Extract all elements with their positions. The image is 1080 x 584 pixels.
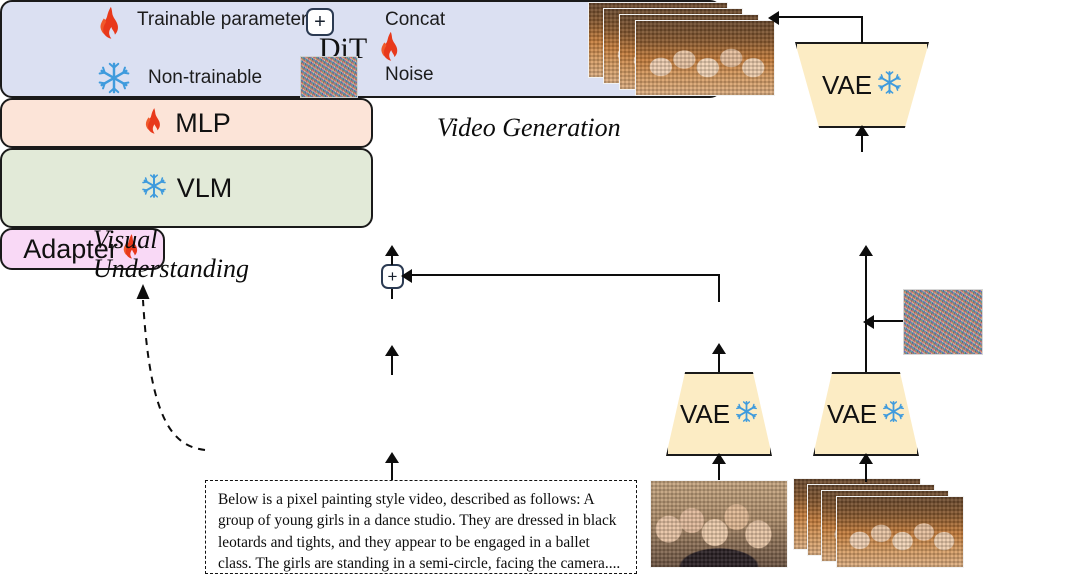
legend-nontrainable-label: Non-trainable xyxy=(148,67,262,89)
mlp-label: MLP xyxy=(175,108,231,139)
edge-decoder-to-output xyxy=(775,16,863,18)
prompt-text: Below is a pixel painting style video, d… xyxy=(218,491,620,572)
edge-vlm-to-mlp-arrow xyxy=(385,345,399,356)
flame-icon xyxy=(142,107,165,140)
concat-plus-icon: + xyxy=(306,8,334,36)
edge-concat-to-dit-arrow xyxy=(385,245,399,256)
edge-vae-to-dit-arrow xyxy=(859,245,873,256)
edge-adapter-riser xyxy=(718,274,720,302)
edge-vae-to-dit xyxy=(865,251,867,372)
flame-icon xyxy=(95,6,125,40)
concat-node-symbol: + xyxy=(388,267,398,287)
legend-concat-label: Concat xyxy=(385,9,445,31)
flame-icon xyxy=(377,31,403,67)
edge-decoder-to-output-arrow xyxy=(768,11,779,25)
visual-understanding-line-1: Visual xyxy=(93,225,293,254)
noise-swatch-icon xyxy=(300,56,358,98)
vae-decoder-label: VAE xyxy=(822,70,872,101)
vae-encoder-video-block: VAE xyxy=(813,372,919,456)
legend-trainable-label: Trainable parameter xyxy=(137,9,307,31)
snowflake-icon xyxy=(141,173,167,204)
edge-adapter-to-concat xyxy=(404,274,720,276)
visual-understanding-line-2: Understanding xyxy=(93,254,293,283)
video-frame xyxy=(836,496,964,568)
vae-encoder-reference-label: VAE xyxy=(680,399,730,430)
edge-decoder-riser xyxy=(861,16,863,43)
reference-photo xyxy=(650,480,790,572)
vae-encoder-video-label: VAE xyxy=(827,399,877,430)
reference-photo-frame xyxy=(650,480,788,568)
vae-encoder-reference-block: VAE xyxy=(666,372,772,456)
vae-decoder-block: VAE xyxy=(795,42,929,128)
edge-vae-to-adapter-arrow xyxy=(712,343,726,354)
snowflake-icon xyxy=(882,400,905,428)
snowflake-icon xyxy=(735,400,758,428)
snowflake-icon xyxy=(97,61,131,95)
edge-concat-to-dit xyxy=(391,255,393,265)
legend-noise-label: Noise xyxy=(385,64,434,86)
edge-reference-to-vae-arrow xyxy=(712,453,726,464)
vlm-block: VLM xyxy=(0,148,373,228)
input-video-frames xyxy=(793,478,968,574)
video-generation-title: Video Generation xyxy=(437,113,621,143)
generated-video-frames xyxy=(588,2,778,100)
vlm-label: VLM xyxy=(177,173,233,204)
edge-inputvideo-to-vae-arrow xyxy=(859,453,873,464)
concat-plus-symbol: + xyxy=(314,11,326,34)
edge-prompt-to-vlm-arrow xyxy=(385,452,399,463)
snowflake-icon xyxy=(877,70,902,100)
edge-mlp-to-concat xyxy=(391,289,393,299)
architecture-diagram: Trainable parameter + Concat Non-trainab… xyxy=(0,0,1080,584)
visual-understanding-title: Visual Understanding xyxy=(93,225,293,283)
edge-noise-to-latent-arrow xyxy=(863,315,874,329)
prompt-text-box: Below is a pixel painting style video, d… xyxy=(205,480,637,574)
video-frame xyxy=(635,20,775,96)
noise-latent xyxy=(903,289,983,355)
edge-dit-to-vae-decoder-arrow xyxy=(855,125,869,136)
mlp-block: MLP xyxy=(0,98,373,148)
edge-adapter-to-concat-arrow xyxy=(401,269,412,283)
